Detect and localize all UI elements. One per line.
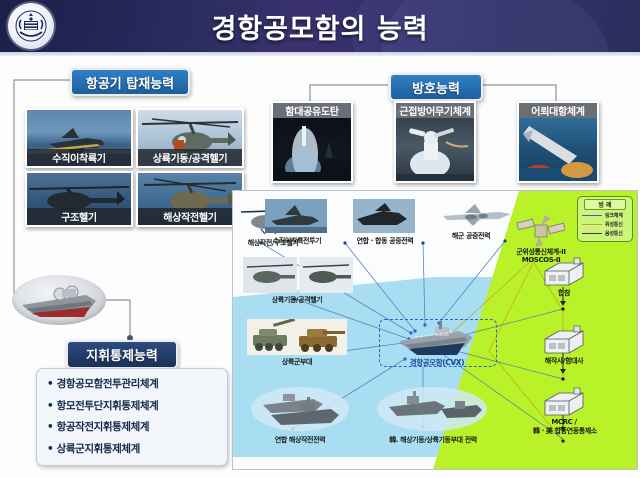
page-title: 경항공모함의 능력 [0, 0, 640, 52]
legend-row: 음성통신 [582, 230, 628, 237]
card-caption: 구조헬기 [27, 208, 131, 225]
air-node-label: 해군 공중전력 [431, 231, 511, 241]
card-caption: 함대공유도탄 [273, 103, 351, 118]
legend-line-swatch [582, 224, 602, 225]
rok-task-force-thumb [383, 389, 483, 435]
stealth-fighter-thumb [353, 199, 415, 237]
cvx-center-label: 경항공모함(CVX) [383, 357, 491, 368]
cvx-carrier-illustration [12, 275, 106, 325]
diagram-legend: 범 례 링크체계 위성통신 음성통신 [577, 196, 633, 242]
legend-label: 링크체계 [605, 212, 623, 219]
card-rescue-helicopter[interactable]: 구조헬기 [25, 171, 133, 227]
list-item: 상륙군지휘통제체계 [47, 441, 227, 456]
card-caption: 수직이착륙기 [27, 149, 131, 166]
aircraft-capability-heading[interactable]: 항공기 탑재능력 [70, 68, 190, 96]
armor-artillery-thumb [247, 319, 347, 359]
card-caption: 상륙기동/공격헬기 [138, 149, 242, 166]
ciws-photo [396, 118, 474, 181]
card-maritime-operations-helicopter[interactable]: 해상작전헬기 [136, 171, 244, 227]
legend-label: 음성통신 [605, 230, 623, 237]
air-node-label: 수직이착륙전투기 [253, 236, 341, 246]
card-assault-helicopter[interactable]: 상륙기동/공격헬기 [136, 108, 244, 168]
defense-capability-heading[interactable]: 방호능력 [389, 73, 483, 101]
p8-patrol-aircraft-thumb [439, 201, 513, 233]
command-building-icon [541, 257, 587, 287]
shore-node-mcrc: MCRC / 韓 · 美 합동연동통제소 [533, 387, 595, 436]
command-control-list: 경항공모함전투관리체계 항모전투단지휘통제체계 항공작전지휘통제체계 상륙군지휘… [36, 368, 228, 466]
f35b-thumb [265, 199, 327, 237]
navy-crest-emblem-icon [8, 3, 54, 49]
surface-node-label: 상륙군부대 [257, 357, 337, 367]
list-item: 항공작전지휘통제체계 [47, 419, 227, 434]
shore-node-label: 합참 [539, 288, 589, 298]
air-node-label: 상륙기동/공격헬기 [247, 295, 347, 305]
card-caption: 어뢰대항체계 [519, 103, 597, 118]
card-caption: 근접방어무기체계 [396, 103, 474, 118]
shore-node-fleet-command: 해작사/함대사 [539, 325, 589, 366]
command-control-heading[interactable]: 지휘통제능력 [66, 340, 178, 369]
sam-launch-photo [273, 118, 351, 181]
legend-label: 위성통신 [605, 221, 623, 228]
legend-title: 범 례 [584, 199, 626, 210]
torpedo-countermeasure-photo [519, 118, 597, 181]
marine-helicopter-thumb [243, 257, 353, 297]
legend-line-swatch [582, 215, 602, 216]
operations-diagram-panel: 해상작전/구조헬기 수직이착륙전투기 연합 · 합동 공중전력 [232, 190, 638, 470]
shore-node-label-line2: 韓 · 美 합동연동통제소 [533, 426, 595, 436]
surface-node-label: 韓. 해상기동/상륙기동부대 전력 [369, 435, 497, 445]
card-caption: 해상작전헬기 [138, 208, 242, 225]
shore-node-label: 해작사/함대사 [539, 356, 589, 366]
surface-node-label: 연합 해상작전전력 [247, 435, 353, 445]
card-torpedo-countermeasure[interactable]: 어뢰대항체계 [517, 101, 599, 183]
shore-node-jcs: 합참 [539, 257, 589, 298]
list-item: 경항공모함전투관리체계 [47, 376, 227, 391]
card-ciws[interactable]: 근접방어무기체계 [394, 101, 476, 183]
allied-warships-thumb [257, 389, 345, 435]
legend-row: 위성통신 [582, 221, 628, 228]
command-building-icon [541, 325, 587, 355]
air-node-label: 연합 · 합동 공중전력 [343, 236, 427, 246]
legend-line-swatch [582, 233, 602, 234]
command-building-icon [541, 387, 587, 417]
shore-node-label-line1: MCRC / [533, 418, 595, 426]
card-ship-to-air-missile[interactable]: 함대공유도탄 [271, 101, 353, 183]
legend-row: 링크체계 [582, 212, 628, 219]
card-vtol-aircraft[interactable]: 수직이착륙기 [25, 108, 133, 168]
slide-root: 경항공모함의 능력 항공기 탑재능력 [0, 0, 640, 478]
header-divider [0, 52, 640, 56]
list-item: 항모전투단지휘통제체계 [47, 398, 227, 413]
